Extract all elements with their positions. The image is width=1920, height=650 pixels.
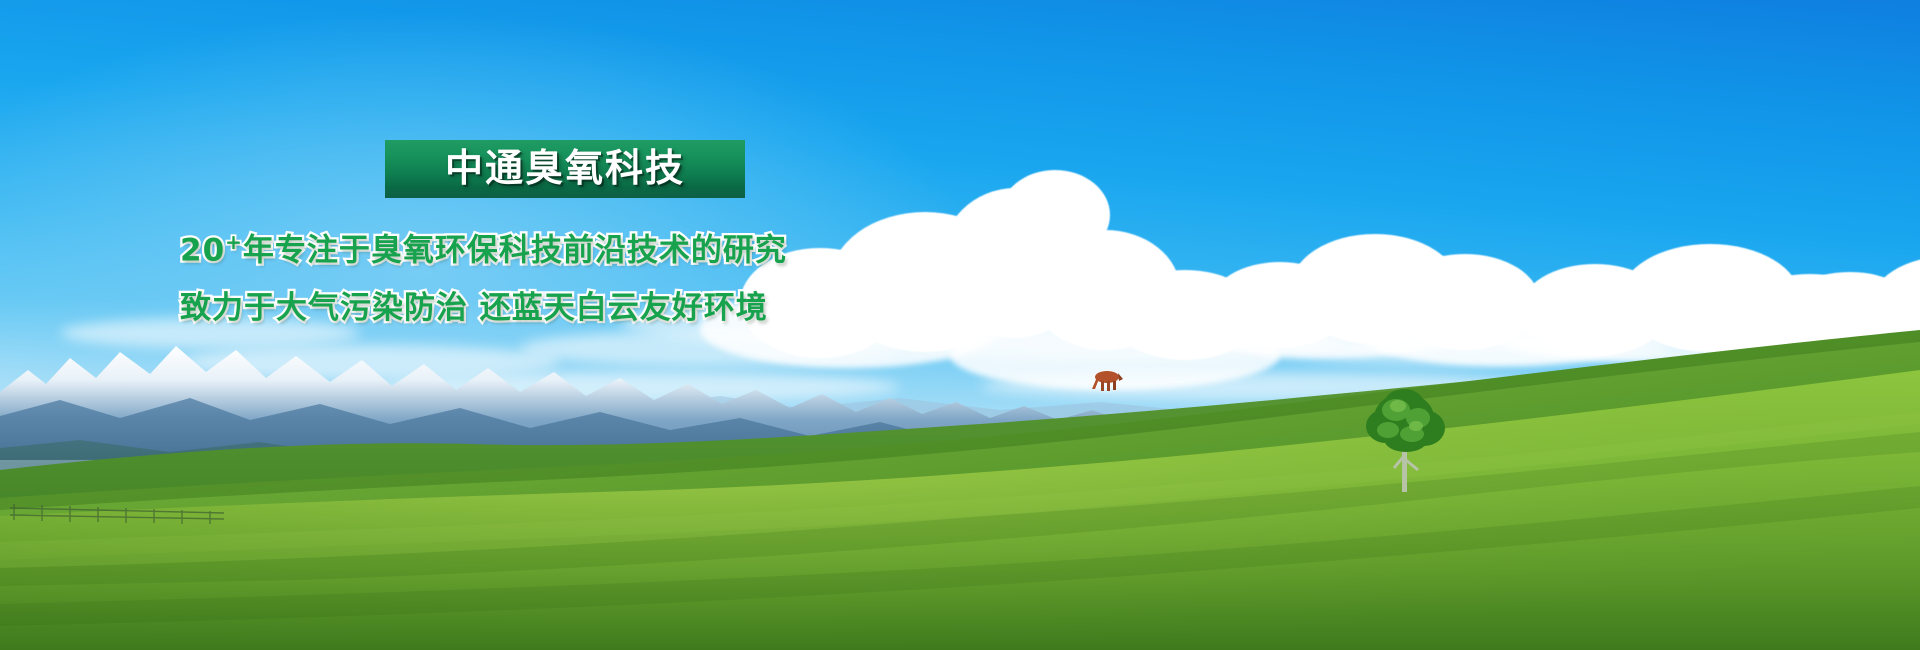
tagline-plus-superscript: +	[225, 230, 243, 254]
brand-title-box: 中通臭氧科技	[385, 140, 745, 198]
hero-banner: 中通臭氧科技 20+年专注于臭氧环保科技前沿技术的研究 致力于大气污染防治 还蓝…	[0, 0, 1920, 650]
tagline-line-1-rest: 年专注于臭氧环保科技前沿技术的研究	[243, 232, 787, 268]
tagline-years-number: 20	[180, 232, 225, 268]
fence-icon	[10, 498, 230, 528]
brand-title: 中通臭氧科技	[445, 149, 685, 187]
tagline-line-2: 致力于大气污染防治 还蓝天白云友好环境	[180, 293, 795, 324]
tagline-line-1: 20+年专注于臭氧环保科技前沿技术的研究	[180, 232, 795, 266]
lone-tree-icon	[1350, 384, 1460, 494]
banner-text-block: 中通臭氧科技 20+年专注于臭氧环保科技前沿技术的研究 致力于大气污染防治 还蓝…	[175, 140, 795, 324]
grazing-horse-icon	[1085, 365, 1127, 399]
